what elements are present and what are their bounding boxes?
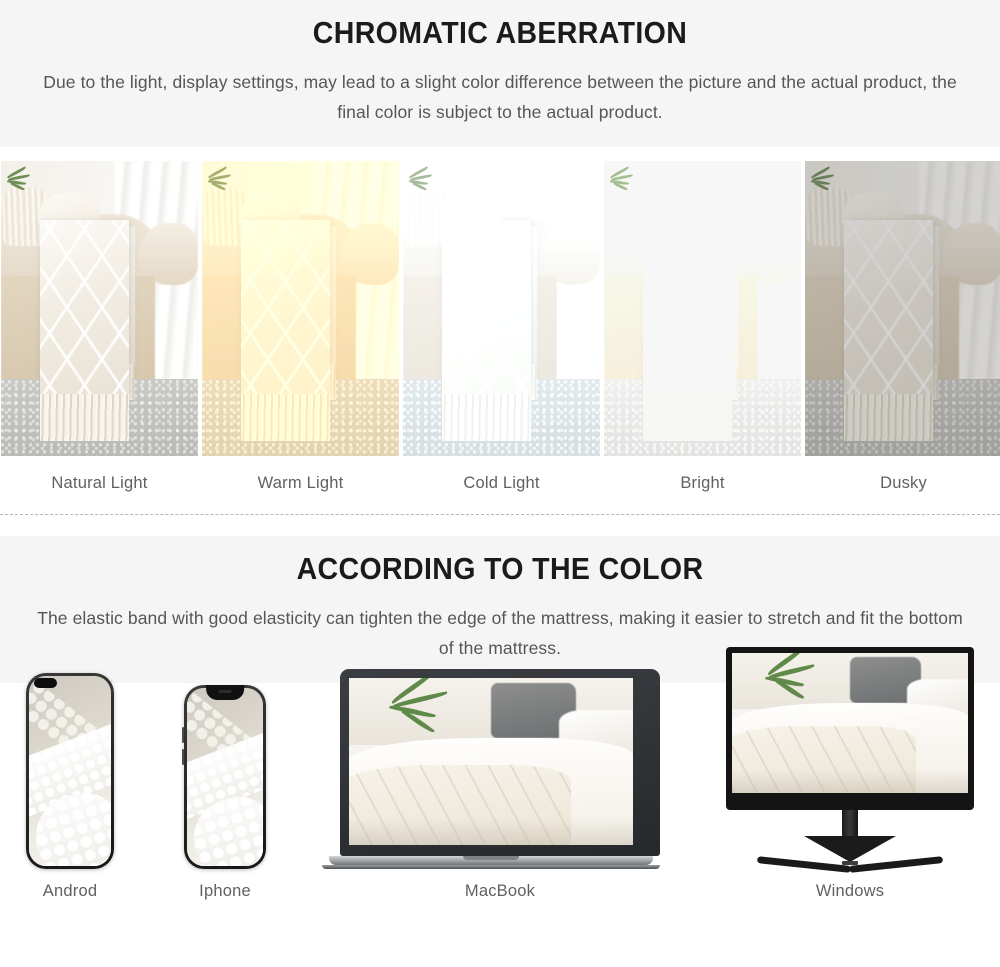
device-label: Windows (726, 869, 974, 901)
section-divider (0, 514, 1000, 515)
notch-icon (206, 685, 244, 700)
device-preview-strip: Androd (0, 701, 1000, 901)
lighting-thumbnail-label: Cold Light (403, 456, 600, 493)
monitor-screen[interactable] (732, 653, 968, 793)
lighting-thumbnail-dusky[interactable]: Dusky (805, 161, 1000, 493)
product-detail-page: CHROMATIC ABERRATION Due to the light, d… (0, 0, 1000, 967)
lighting-thumbnail-label: Dusky (805, 456, 1000, 493)
device-label: Androd (26, 869, 114, 901)
device-preview-android[interactable]: Androd (26, 673, 114, 901)
bed-shadow (732, 770, 968, 792)
lighting-tint-overlay (1, 161, 198, 456)
throw-blanket-photo[interactable] (604, 161, 801, 456)
device-preview-iphone[interactable]: Iphone (184, 685, 266, 901)
device-label: Iphone (184, 869, 266, 901)
lighting-thumbnail-bright[interactable]: Bright (604, 161, 801, 493)
monitor-mockup[interactable] (726, 647, 974, 869)
chromatic-section-description: Due to the light, display settings, may … (35, 67, 965, 127)
bed-shadow (349, 818, 633, 845)
color-section-title: ACCORDING TO THE COLOR (40, 550, 960, 589)
throw-blanket-photo[interactable] (805, 161, 1000, 456)
lighting-thumbnail-cold-light[interactable]: Cold Light (403, 161, 600, 493)
lighting-tint-overlay (202, 161, 399, 456)
chromatic-section-title: CHROMATIC ABERRATION (40, 14, 960, 53)
macbook-foot (322, 865, 660, 869)
volume-up-button[interactable] (182, 727, 184, 743)
monitor-stand-foot (757, 858, 943, 869)
throw-blanket-photo[interactable] (202, 161, 399, 456)
lighting-thumbnail-warm-light[interactable]: Warm Light (202, 161, 399, 493)
according-to-color-section: ACCORDING TO THE COLOR The elastic band … (0, 536, 1000, 901)
lighting-thumbnail-label: Bright (604, 456, 801, 493)
macbook-mockup[interactable] (340, 669, 660, 869)
lid-notch (463, 856, 519, 860)
macbook-screen[interactable] (349, 678, 633, 845)
lighting-thumbnail-natural-light[interactable]: Natural Light (1, 161, 198, 493)
lighting-tint-overlay (805, 161, 1000, 456)
device-label: MacBook (340, 869, 660, 901)
lighting-tint-overlay (403, 161, 600, 456)
monitor-stand-neck (842, 810, 858, 836)
device-preview-macbook[interactable]: MacBook (340, 669, 660, 901)
chromatic-header-band: CHROMATIC ABERRATION Due to the light, d… (0, 0, 1000, 147)
throw-blanket-photo[interactable] (1, 161, 198, 456)
android-screen[interactable] (29, 676, 111, 866)
macbook-base (329, 856, 653, 865)
lighting-tint-overlay (604, 161, 801, 456)
volume-down-button[interactable] (182, 749, 184, 765)
lighting-thumbnail-strip: Natural Light (0, 161, 1000, 493)
chromatic-aberration-section: CHROMATIC ABERRATION Due to the light, d… (0, 0, 1000, 493)
plant-leaf-icon (763, 653, 824, 701)
lighting-thumbnail-label: Warm Light (202, 456, 399, 493)
iphone-screen[interactable] (187, 688, 263, 866)
throw-blanket-photo[interactable] (403, 161, 600, 456)
android-phone-mockup[interactable] (26, 673, 114, 869)
lighting-thumbnail-label: Natural Light (1, 456, 198, 493)
iphone-mockup[interactable] (184, 685, 266, 869)
plant-leaf-icon (386, 678, 460, 735)
device-preview-windows[interactable]: Windows (726, 647, 974, 901)
punch-hole-camera-icon (34, 678, 57, 688)
